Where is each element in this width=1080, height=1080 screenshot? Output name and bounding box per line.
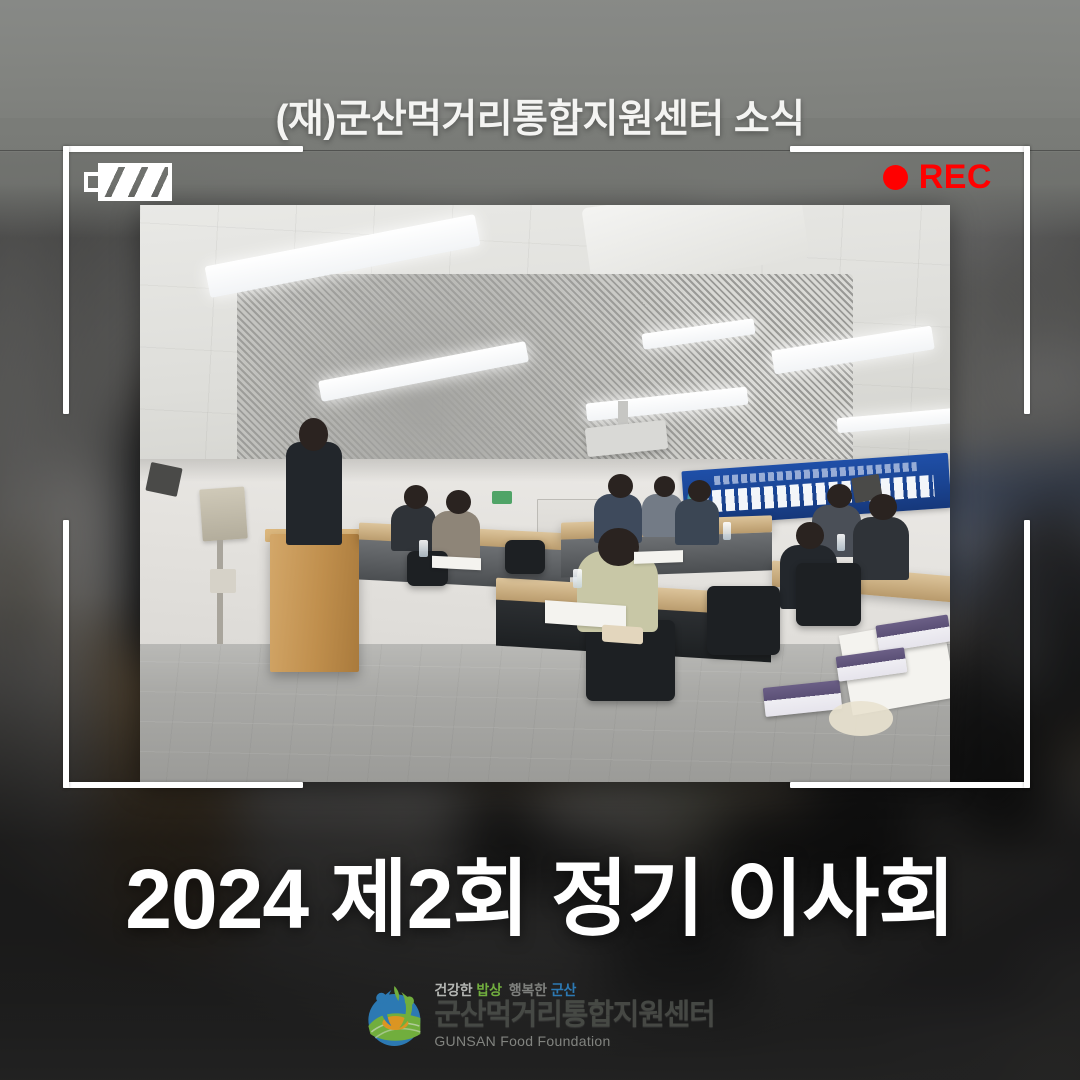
rec-label: REC [919, 160, 992, 194]
logo-tagline: 건강한밥상행복한군산 [434, 983, 714, 997]
main-headline: 2024 제2회 정기 이사회 [0, 832, 1080, 953]
rec-indicator: REC [883, 160, 992, 194]
battery-terminal-icon [84, 172, 98, 192]
gunsan-food-foundation-logo-icon [365, 982, 423, 1048]
logo-tagline-word-2: 밥상 [476, 982, 501, 998]
logo-text-block: 건강한밥상행복한군산 군산먹거리통합지원센터 GUNSAN Food Found… [434, 983, 714, 1048]
logo-organization-name-english: GUNSAN Food Foundation [434, 1034, 714, 1048]
social-card: (재)군산먹거리통합지원센터 소식 REC [0, 0, 1080, 1080]
viewfinder-bracket-bottom-left [63, 520, 303, 788]
logo-organization-name: 군산먹거리통합지원센터 [434, 1001, 714, 1030]
logo-tagline-word-3: 행복한 [509, 982, 547, 998]
battery-body-icon [98, 163, 172, 201]
page-title: (재)군산먹거리통합지원센터 소식 [0, 88, 1080, 144]
viewfinder-bracket-bottom-right [790, 520, 1030, 788]
record-dot-icon [883, 165, 908, 190]
battery-icon [84, 163, 176, 201]
logo-tagline-word-4: 군산 [551, 982, 576, 998]
organization-logo: 건강한밥상행복한군산 군산먹거리통합지원센터 GUNSAN Food Found… [365, 982, 714, 1048]
logo-tagline-word-1: 건강한 [434, 982, 472, 998]
